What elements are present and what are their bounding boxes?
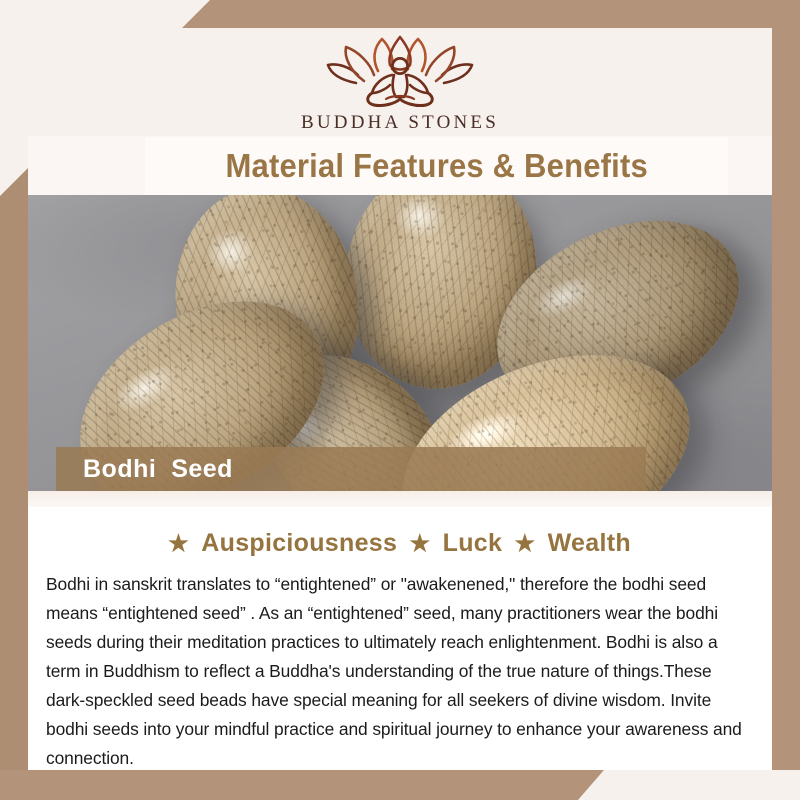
photo-caption-band: Bodhi Seed xyxy=(56,447,646,491)
brand-header: BUDDHA STONES xyxy=(28,28,772,136)
page-title-band: Material Features & Benefits xyxy=(145,137,728,195)
benefit-luck: Luck xyxy=(440,529,506,557)
frame-border-top xyxy=(0,0,800,28)
poster: BUDDHA STONES Material Features & Benefi… xyxy=(0,0,800,800)
star-icon: ★ xyxy=(166,530,191,556)
description-section: ★ Auspiciousness ★ Luck ★ Wealth Bodhi i… xyxy=(28,507,772,770)
star-icon: ★ xyxy=(407,530,432,556)
page-title: Material Features & Benefits xyxy=(225,147,647,185)
lotus-meditation-figure-icon xyxy=(316,35,484,109)
brand-logo: BUDDHA STONES xyxy=(301,35,499,134)
benefit-wealth: Wealth xyxy=(545,529,634,557)
description-text: Bodhi in sanskrit translates to “entight… xyxy=(45,570,755,773)
benefit-auspiciousness: Auspiciousness xyxy=(198,529,400,557)
frame-border-bottom xyxy=(0,770,800,800)
frame-border-right xyxy=(772,0,800,800)
section-divider xyxy=(28,491,772,507)
brand-wordmark: BUDDHA STONES xyxy=(301,112,499,134)
star-icon: ★ xyxy=(512,530,537,556)
benefits-headline: ★ Auspiciousness ★ Luck ★ Wealth xyxy=(45,529,755,558)
photo-caption-label: Bodhi Seed xyxy=(56,455,233,484)
bodhi-seed-photo: Bodhi Seed xyxy=(28,195,772,491)
frame-border-left xyxy=(0,0,28,800)
